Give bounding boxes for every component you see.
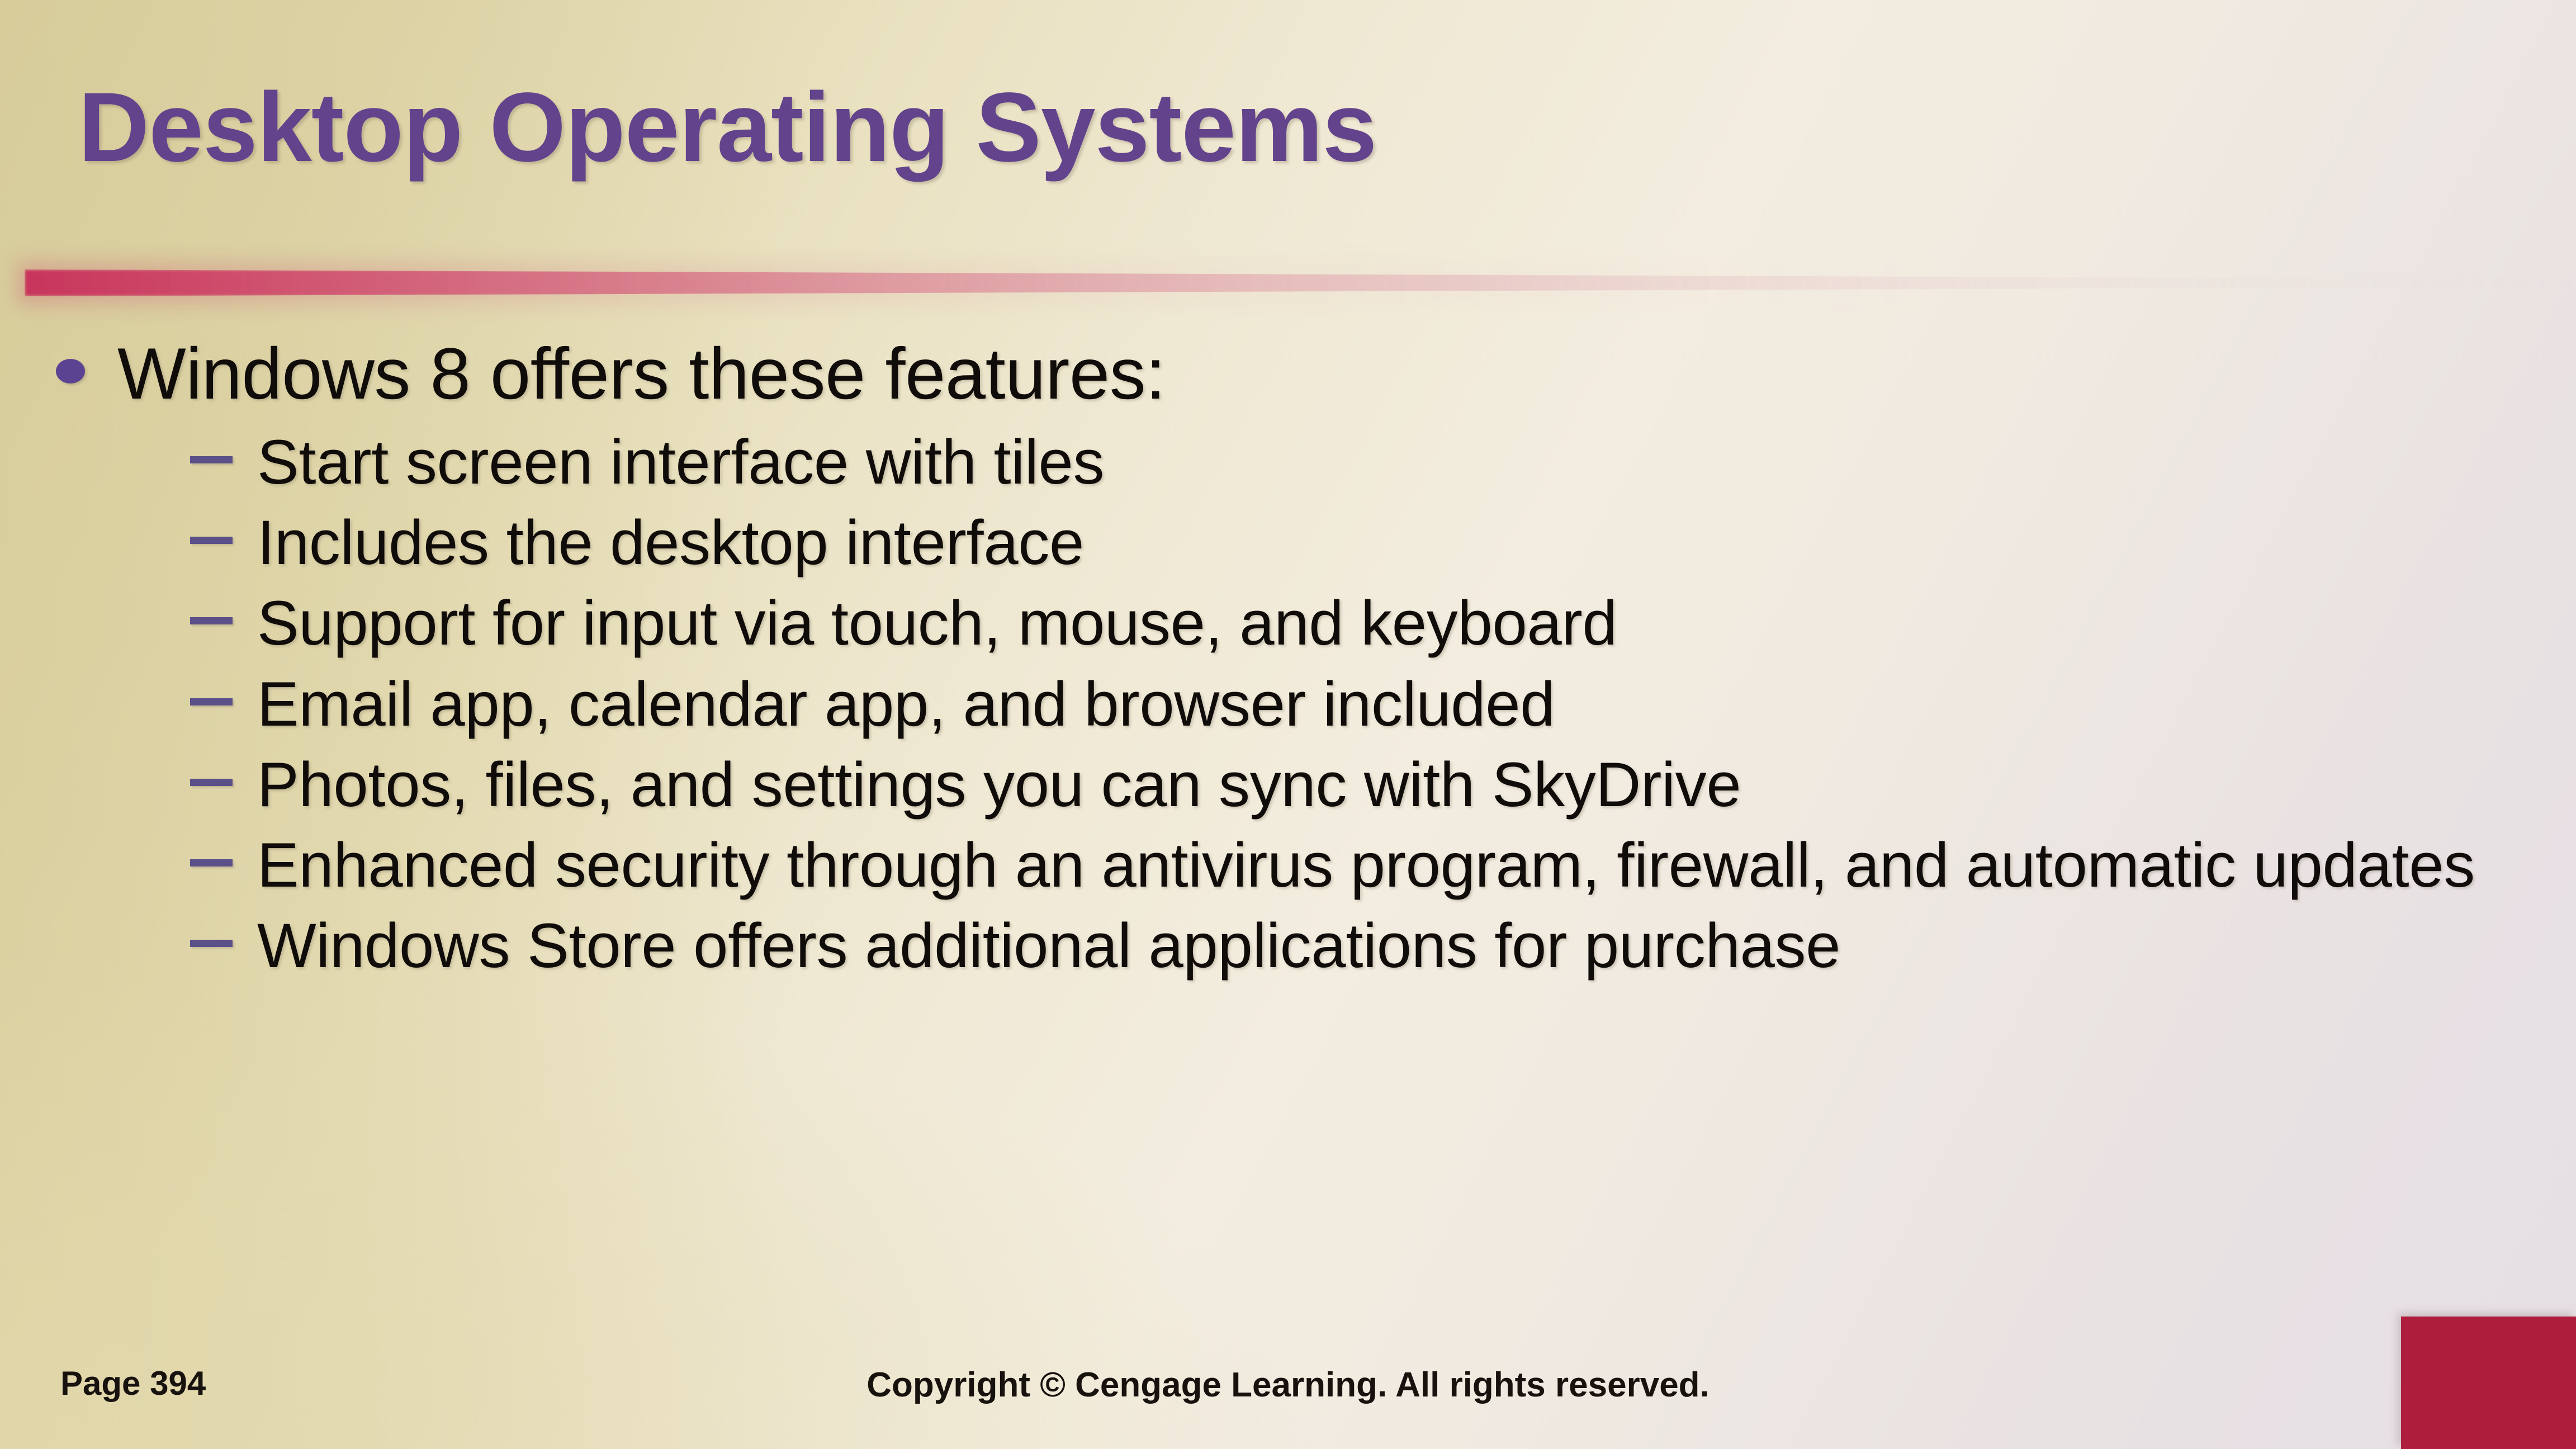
list-item: Windows Store offers additional applicat… [0,906,2576,986]
list-item: Windows 8 offers these features: [0,330,2576,417]
sub-bullet-marker [190,906,257,947]
divider-glow [17,262,1917,305]
dash-marker-icon [190,456,233,463]
sub-bullet-marker [190,423,257,463]
title-divider [0,258,2576,312]
list-item: Email app, calendar app, and browser inc… [0,665,2576,744]
list-item: Photos, files, and settings you can sync… [0,745,2576,825]
sub-bullet-marker [190,745,257,786]
dash-marker-icon [190,617,233,624]
sub-bullet-marker [190,503,257,544]
dash-marker-icon [190,537,233,544]
bullet-marker [56,330,117,383]
copyright-notice: Copyright © Cengage Learning. All rights… [0,1365,2576,1405]
divider-bar [25,269,2576,296]
sub-bullet-text: Email app, calendar app, and browser inc… [257,665,1555,744]
sub-bullet-text: Start screen interface with tiles [257,423,1104,502]
sub-bullet-text: Enhanced security through an antivirus p… [257,826,2475,905]
dash-marker-icon [190,779,233,786]
slide-canvas: Desktop Operating Systems Windows 8 offe… [0,0,2576,1449]
dash-marker-icon [190,859,233,866]
sub-bullet-marker [190,826,257,866]
sub-bullet-marker [190,665,257,705]
sub-bullet-marker [190,584,257,624]
sub-bullet-text: Photos, files, and settings you can sync… [257,745,1741,825]
sub-bullet-text: Windows Store offers additional applicat… [257,906,1840,986]
sub-bullet-text: Support for input via touch, mouse, and … [257,584,1617,663]
page-title: Desktop Operating Systems [78,74,2370,182]
list-item: Support for input via touch, mouse, and … [0,584,2576,663]
dash-marker-icon [190,940,233,947]
slide-body: Windows 8 offers these features: Start s… [0,330,2576,987]
list-item: Enhanced security through an antivirus p… [0,826,2576,905]
list-item: Start screen interface with tiles [0,423,2576,502]
dash-marker-icon [190,698,233,705]
sub-bullet-text: Includes the desktop interface [257,503,1084,583]
bullet-dot-icon [56,359,85,383]
list-item: Includes the desktop interface [0,503,2576,583]
lead-bullet-text: Windows 8 offers these features: [117,330,1166,417]
corner-accent-block [2401,1317,2576,1449]
